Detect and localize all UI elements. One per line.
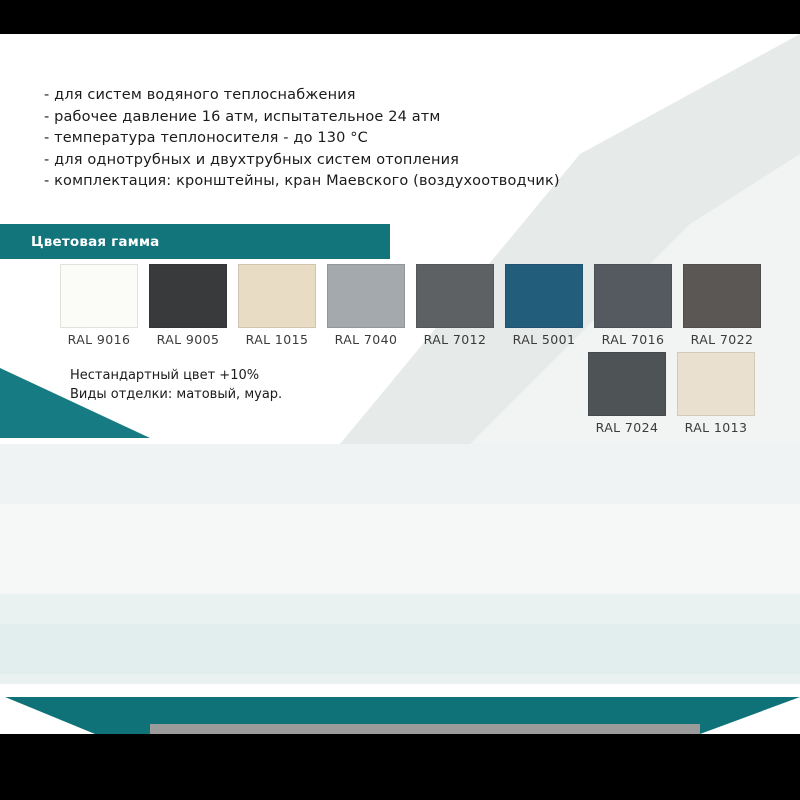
color-note: Нестандартный цвет +10%	[70, 366, 282, 385]
swatch-code: RAL 7022	[691, 332, 754, 347]
spec-item: - для систем водяного теплоснабжения	[44, 85, 644, 107]
swatch-code: RAL 5001	[513, 332, 576, 347]
swatch-item[interactable]: RAL 7012	[416, 264, 494, 347]
color-notes: Нестандартный цвет +10% Виды отделки: ма…	[70, 366, 282, 404]
swatch-code: RAL 9005	[157, 332, 220, 347]
swatch-chip	[149, 264, 227, 328]
swatch-item[interactable]: RAL 1013	[677, 352, 755, 435]
swatch-chip	[683, 264, 761, 328]
swatch-chip	[505, 264, 583, 328]
poster-page: - для систем водяного теплоснабжения - р…	[0, 0, 800, 800]
color-note: Виды отделки: матовый, муар.	[70, 385, 282, 404]
swatch-code: RAL 7040	[335, 332, 398, 347]
spec-item: - рабочее давление 16 атм, испытательное…	[44, 107, 644, 129]
swatch-item[interactable]: RAL 7022	[683, 264, 761, 347]
spec-item: - для однотрубных и двухтрубных систем о…	[44, 150, 644, 172]
swatch-item[interactable]: RAL 7016	[594, 264, 672, 347]
swatch-item[interactable]: RAL 9005	[149, 264, 227, 347]
swatch-code: RAL 7016	[602, 332, 665, 347]
swatch-item[interactable]: RAL 1015	[238, 264, 316, 347]
swatch-item[interactable]: RAL 7040	[327, 264, 405, 347]
swatch-item[interactable]: RAL 7024	[588, 352, 666, 435]
bg-bottom-shadow	[150, 724, 700, 734]
color-section-title: Цветовая гамма	[31, 234, 160, 250]
swatch-chip	[594, 264, 672, 328]
spec-item: - температура теплоносителя - до 130 °С	[44, 128, 644, 150]
spec-item: - комплектация: кронштейны, кран Маевско…	[44, 171, 644, 193]
swatch-code: RAL 1015	[246, 332, 309, 347]
swatch-code: RAL 7024	[596, 420, 659, 435]
swatch-chip	[327, 264, 405, 328]
swatch-item[interactable]: RAL 9016	[60, 264, 138, 347]
swatch-chip	[588, 352, 666, 416]
swatch-row-secondary: RAL 7024 RAL 1013	[588, 352, 766, 435]
swatch-code: RAL 7012	[424, 332, 487, 347]
features-band: гарантияпроизводителя5 лет срок службы30…	[0, 440, 800, 670]
swatch-chip	[238, 264, 316, 328]
swatch-row-primary: RAL 9016 RAL 9005 RAL 1015 RAL 7040 RAL …	[60, 264, 772, 347]
swatch-code: RAL 9016	[68, 332, 131, 347]
swatch-item[interactable]: RAL 5001	[505, 264, 583, 347]
swatch-chip	[60, 264, 138, 328]
swatch-code: RAL 1013	[685, 420, 748, 435]
spec-list: - для систем водяного теплоснабжения - р…	[44, 85, 644, 193]
color-section-header: Цветовая гамма	[0, 224, 390, 259]
swatch-chip	[677, 352, 755, 416]
swatch-chip	[416, 264, 494, 328]
